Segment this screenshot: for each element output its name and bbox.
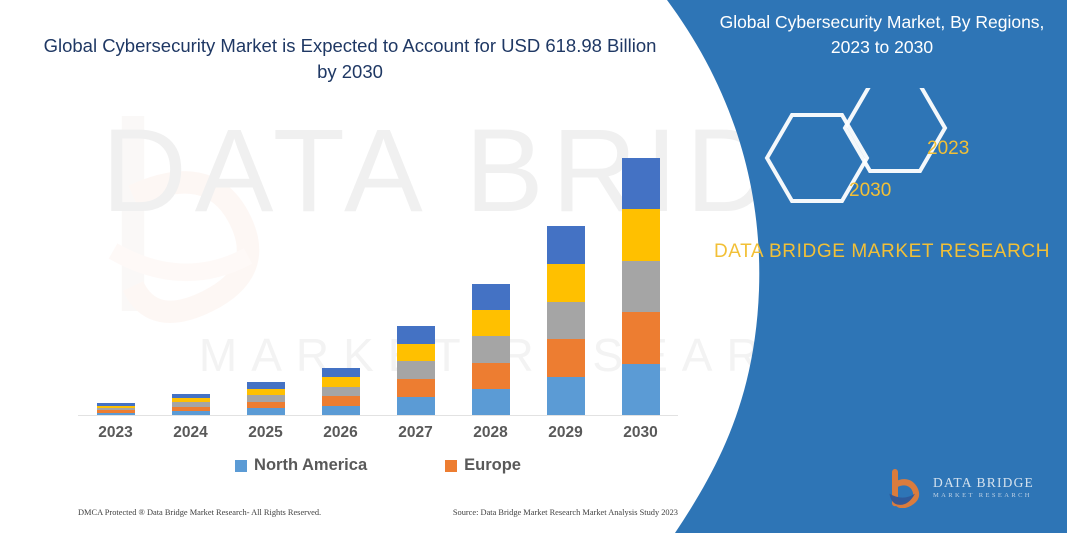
legend-swatch-icon <box>445 460 457 472</box>
bar-segment <box>322 368 360 377</box>
bar-segment <box>547 264 585 302</box>
bar-slot <box>453 110 528 415</box>
infographic-root: DATA BRIDGE MARKET RESEARCH Global Cyber… <box>0 0 1067 533</box>
x-tick-2026: 2026 <box>303 424 378 442</box>
x-tick-2024: 2024 <box>153 424 228 442</box>
bar-slot <box>528 110 603 415</box>
x-axis-line <box>78 415 678 416</box>
bar-slot <box>303 110 378 415</box>
footer-source: Source: Data Bridge Market Research Mark… <box>453 508 678 517</box>
legend-item-europe[interactable]: Europe <box>445 456 521 475</box>
bar-slot <box>228 110 303 415</box>
bar-stack-2026 <box>322 295 360 415</box>
bar-segment <box>397 379 435 397</box>
bar-segment <box>397 397 435 415</box>
chart-title: Global Cybersecurity Market is Expected … <box>40 33 660 86</box>
legend-swatch-icon <box>235 460 247 472</box>
hexagon-label-2030: 2030 <box>849 180 891 202</box>
bar-stack-2024 <box>172 335 210 415</box>
logo-text: DATA BRIDGE MARKET RESEARCH <box>933 476 1034 500</box>
x-tick-2029: 2029 <box>528 424 603 442</box>
bar-segment <box>322 377 360 386</box>
bar-stack-2025 <box>247 315 285 415</box>
chart-legend: North AmericaEurope <box>78 456 678 475</box>
hexagon-label-2023: 2023 <box>927 138 969 160</box>
logo-line-primary: DATA BRIDGE <box>933 476 1034 491</box>
logo-line-secondary: MARKET RESEARCH <box>933 491 1034 500</box>
legend-label: North America <box>254 456 367 475</box>
bar-stack-2029 <box>547 175 585 415</box>
hexagon-outlines-icon <box>727 88 1057 213</box>
x-tick-2023: 2023 <box>78 424 153 442</box>
chart-plot-area <box>78 110 678 416</box>
x-tick-2027: 2027 <box>378 424 453 442</box>
bar-slot <box>153 110 228 415</box>
bar-segment <box>472 389 510 415</box>
bar-segment <box>547 226 585 264</box>
bar-segment <box>97 413 135 415</box>
legend-item-north-america[interactable]: North America <box>235 456 367 475</box>
x-tick-2028: 2028 <box>453 424 528 442</box>
bar-segment <box>397 326 435 344</box>
panel-brand-text: DATA BRIDGE MARKET RESEARCH <box>707 238 1057 267</box>
bar-segment <box>472 336 510 362</box>
bar-segment <box>472 310 510 336</box>
bar-segment <box>547 339 585 377</box>
panel-content: Global Cybersecurity Market, By Regions,… <box>647 0 1067 533</box>
bar-segment <box>172 411 210 415</box>
bar-stack-2028 <box>472 215 510 415</box>
x-tick-2025: 2025 <box>228 424 303 442</box>
bar-segment <box>322 387 360 396</box>
bar-stack-2027 <box>397 250 435 415</box>
bar-group <box>78 110 678 415</box>
hexagon-group: 2023 2030 <box>727 88 1057 213</box>
bar-segment <box>547 377 585 415</box>
bar-segment <box>322 396 360 405</box>
bar-segment <box>472 363 510 389</box>
bar-slot <box>378 110 453 415</box>
bar-segment <box>397 361 435 379</box>
bar-stack-2023 <box>97 355 135 415</box>
data-bridge-logo-icon <box>887 468 927 508</box>
bar-segment <box>322 406 360 415</box>
legend-label: Europe <box>464 456 521 475</box>
bar-slot <box>78 110 153 415</box>
panel-logo: DATA BRIDGE MARKET RESEARCH <box>887 465 1037 511</box>
bar-segment <box>397 344 435 362</box>
x-axis-labels: 20232024202520262027202820292030 <box>78 424 678 442</box>
panel-title: Global Cybersecurity Market, By Regions,… <box>707 10 1057 61</box>
side-panel: Global Cybersecurity Market, By Regions,… <box>647 0 1067 533</box>
bar-segment <box>247 408 285 415</box>
footer-copyright: DMCA Protected ® Data Bridge Market Rese… <box>78 508 321 517</box>
footer: DMCA Protected ® Data Bridge Market Rese… <box>78 508 678 517</box>
bar-segment <box>547 302 585 340</box>
bar-segment <box>472 284 510 310</box>
